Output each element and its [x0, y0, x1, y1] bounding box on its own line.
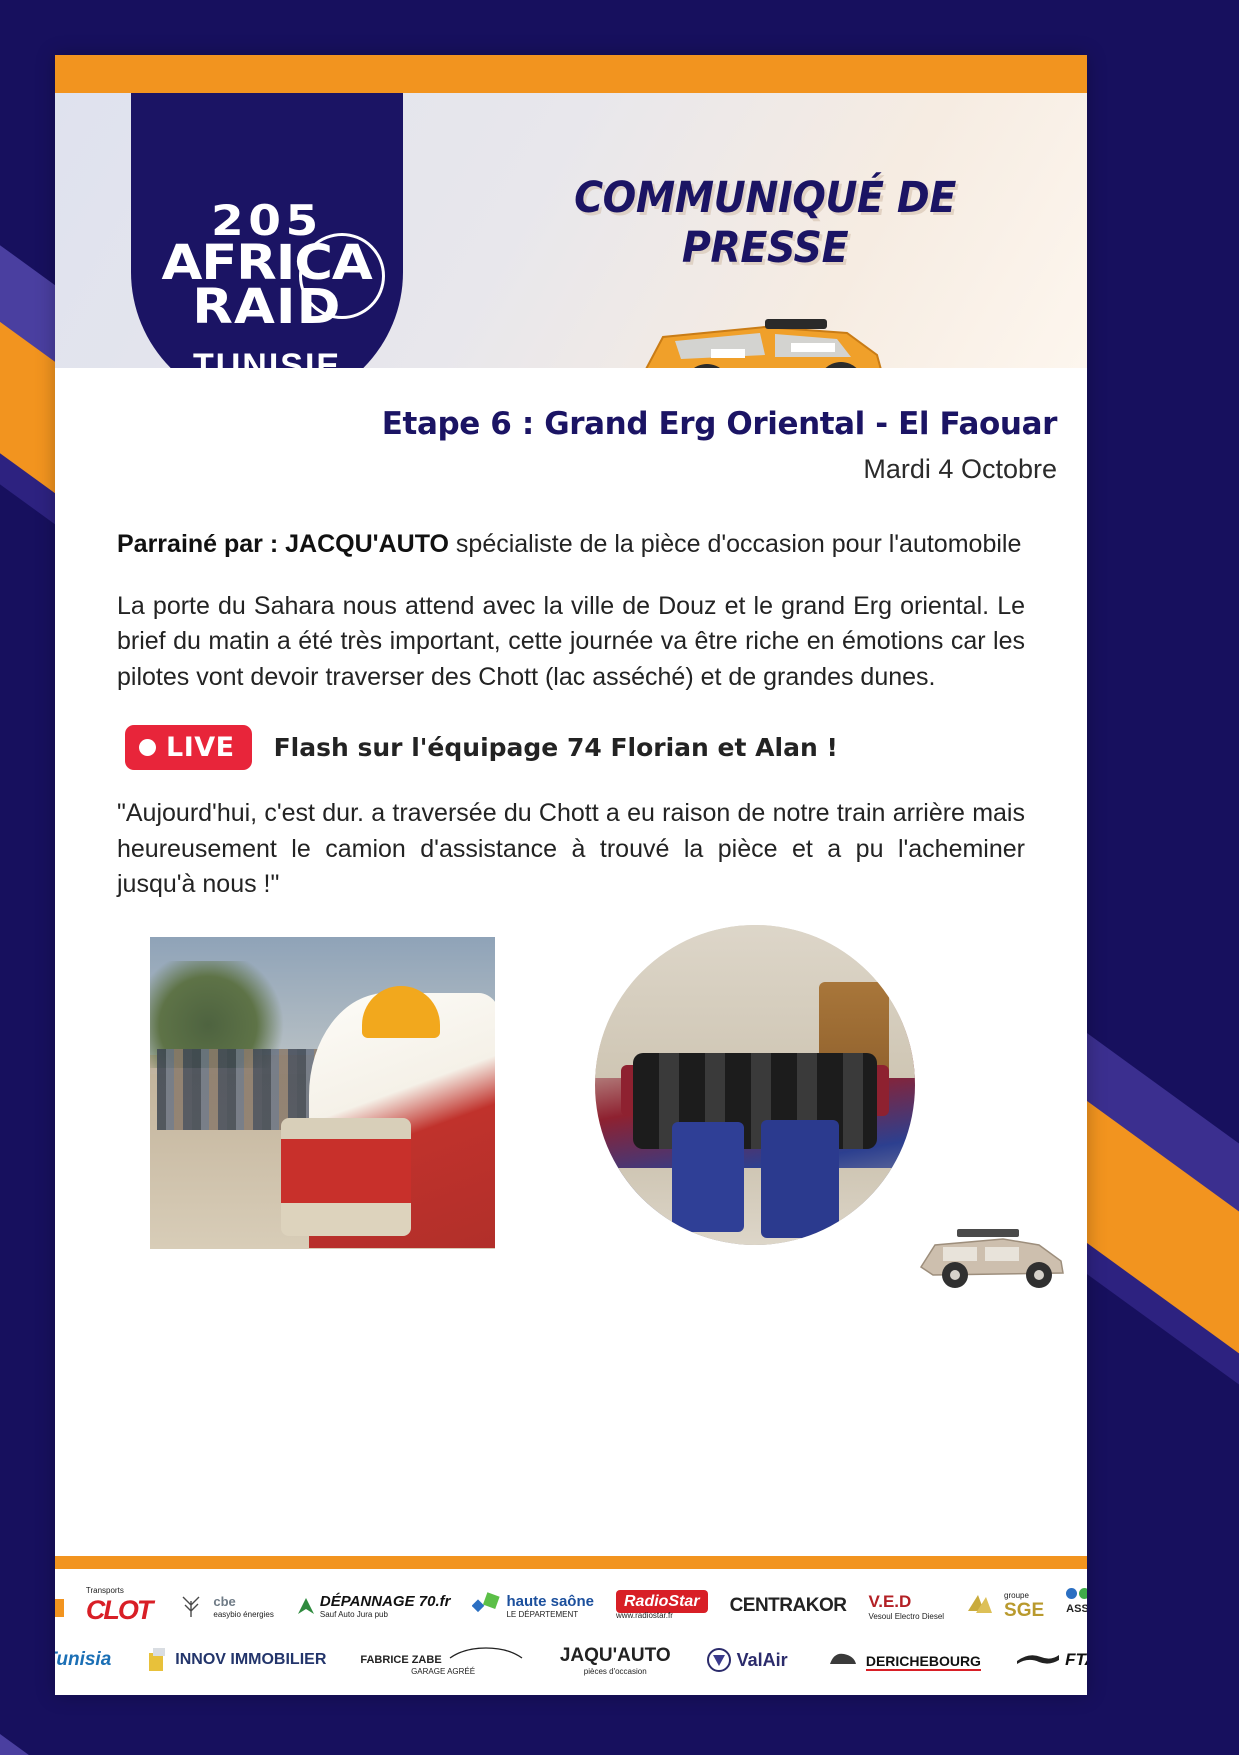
stage-date: Mardi 4 Octobre [85, 454, 1057, 485]
sponsor-name: FTA [1065, 1650, 1087, 1669]
live-badge: LIVE [125, 725, 252, 770]
sponsor-sub: Groupe [55, 1590, 64, 1599]
sponsor-galvanoplast: Groupe GalvanoPlast [55, 1590, 64, 1622]
sponsor-sub: pièces d'occasion [560, 1667, 671, 1676]
sponsor-tunisia: Tunisia [55, 1649, 111, 1671]
sponsor-valair: ValAir [705, 1646, 788, 1674]
sponsor-name: ValAir [737, 1650, 788, 1671]
sponsor-name: DÉPANNAGE 70.fr [320, 1593, 451, 1610]
valair-mark-icon [705, 1646, 733, 1674]
sponsor-name: haute saône [506, 1593, 594, 1610]
page-title: COMMUNIQUÉ DE PRESSE [507, 173, 1022, 273]
sponsor-name: SGE [1004, 1600, 1044, 1621]
sponsor-footer: Groupe GalvanoPlast Transports CLOT cbe … [55, 1569, 1087, 1695]
sponsor-sub: easybio énergies [213, 1610, 273, 1619]
sponsor-derichebourg: DERICHEBOURG [822, 1650, 981, 1670]
photo-diners [633, 1053, 876, 1149]
logo-circle-emblem-icon [299, 233, 385, 319]
sponsor-credit-prefix: Parrainé par : JACQU'AUTO [117, 530, 449, 558]
header-hero: COMMUNIQUÉ DE PRESSE 205 AFRICA RAID TUN… [55, 93, 1087, 368]
sponsor-diratzonian: ASSURANCE DIRATZONIAN Protection maison … [1066, 1588, 1087, 1625]
live-heading: Flash sur l'équipage 74 Florian et Alan … [274, 733, 838, 762]
sponsor-innov-immobilier: INNOV IMMOBILIER [145, 1645, 326, 1675]
sponsor-name: cbe [213, 1594, 235, 1609]
sponsor-name: FABRICE ZABE [360, 1654, 441, 1666]
assurance-dots-icon [1066, 1588, 1087, 1599]
horse-icon [822, 1650, 862, 1666]
sponsor-accent-block [55, 1599, 64, 1617]
building-icon [145, 1645, 171, 1675]
live-dot-icon [139, 739, 156, 756]
arrow-icon [296, 1596, 316, 1616]
sponsor-sub: Sauf Auto Jura pub [320, 1610, 451, 1619]
sponsor-clot: Transports CLOT [86, 1586, 152, 1626]
sponsor-name: INNOV IMMOBILIER [175, 1651, 326, 1669]
sponsor-name: V.E.D [868, 1592, 911, 1611]
sponsor-sub: Protection maison et auto [1066, 1616, 1087, 1625]
sponsor-fta: FTA [1015, 1650, 1087, 1670]
sponsor-row-2: Tunisia INNOV IMMOBILIER FABRICE ZABE GA… [69, 1633, 1073, 1687]
logo-text-tunisie: TUNISIE [193, 347, 341, 368]
sponsor-name: JAQU'AUTO [560, 1645, 671, 1666]
sponsor-sub: Transports [86, 1586, 152, 1595]
sponsor-centrakor: CENTRAKOR [730, 1595, 847, 1617]
sponsor-sub: LE DÉPARTEMENT [506, 1610, 594, 1619]
department-logo-icon [472, 1591, 502, 1621]
photo-drum [281, 1118, 411, 1236]
photo-chair [761, 1120, 839, 1238]
photo-floor [595, 1168, 915, 1245]
africa-raid-logo: 205 AFRICA RAID TUNISIE [131, 93, 403, 368]
sponsor-sge: groupe SGE [966, 1591, 1044, 1622]
live-badge-label: LIVE [166, 732, 235, 763]
sponsor-name: RadioStar [616, 1590, 708, 1613]
stage-header: Etape 6 : Grand Erg Oriental - El Faouar… [55, 368, 1087, 485]
photo-drummer [150, 937, 495, 1249]
photo-chair [672, 1122, 744, 1232]
photo-gallery [55, 937, 1087, 1257]
header-orange-bar [55, 55, 1087, 93]
sponsor-jaquauto: JAQU'AUTO pièces d'occasion [560, 1645, 671, 1676]
rally-car-graphic [615, 293, 915, 368]
quote-paragraph: "Aujourd'hui, c'est dur. a traversée du … [117, 796, 1025, 903]
article-body: Parrainé par : JACQU'AUTO spécialiste de… [55, 485, 1087, 903]
sponsor-haute-saone: haute saône LE DÉPARTEMENT [472, 1591, 594, 1621]
sponsor-row-1: Groupe GalvanoPlast Transports CLOT cbe … [69, 1579, 1073, 1633]
sponsor-credit-line: Parrainé par : JACQU'AUTO spécialiste de… [117, 527, 1025, 563]
sponsor-sub: Vesoul Electro Diesel [868, 1612, 944, 1621]
stage-title: Etape 6 : Grand Erg Oriental - El Faouar [85, 406, 1057, 442]
sponsor-name: CLOT [86, 1595, 152, 1625]
footer-orange-bar [55, 1556, 1087, 1569]
sponsor-radiostar: RadioStar www.radiostar.fr [616, 1593, 708, 1620]
live-flash-row: LIVE Flash sur l'équipage 74 Florian et … [125, 725, 1025, 770]
photo-dining-circle [595, 925, 915, 1245]
sponsor-sub: GARAGE AGRÉÉ [360, 1667, 525, 1676]
intro-paragraph: La porte du Sahara nous attend avec la v… [117, 589, 1025, 696]
sponsor-sub: groupe [1004, 1591, 1044, 1600]
press-release-page: COMMUNIQUÉ DE PRESSE 205 AFRICA RAID TUN… [55, 55, 1087, 1695]
sge-mark-icon [966, 1591, 1000, 1621]
checkered-flag-icon [1015, 1651, 1061, 1665]
sponsor-ved: V.E.D Vesoul Electro Diesel [868, 1592, 944, 1621]
sponsor-fabrice-zabe: FABRICE ZABE GARAGE AGRÉÉ [360, 1645, 525, 1676]
sponsor-credit-rest: spécialiste de la pièce d'occasion pour … [449, 530, 1021, 558]
sponsor-name: ASSURANCE DIRATZONIAN [1066, 1603, 1087, 1615]
car-outline-icon [446, 1645, 526, 1663]
sponsor-depannage70: DÉPANNAGE 70.fr Sauf Auto Jura pub [296, 1593, 451, 1619]
footer-car-graphic [907, 1217, 1077, 1293]
sponsor-name: DERICHEBOURG [866, 1653, 981, 1671]
tree-icon [173, 1591, 209, 1621]
sponsor-cbe: cbe easybio énergies [173, 1591, 273, 1621]
